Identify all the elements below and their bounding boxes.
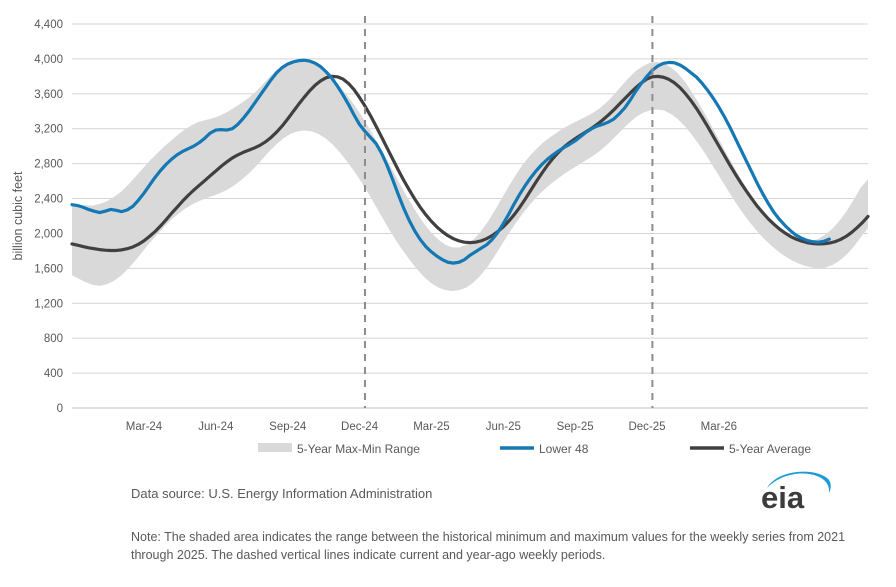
legend-swatch-band xyxy=(258,443,292,452)
y-tick-label: 1,600 xyxy=(34,263,63,275)
legend-item: 5-Year Max-Min Range xyxy=(258,442,420,456)
x-tick-label: Jun-25 xyxy=(486,421,521,433)
y-tick-label: 2,800 xyxy=(34,159,63,171)
footer-source: Data source: U.S. Energy Information Adm… xyxy=(131,485,871,503)
x-tick-label: Dec-24 xyxy=(341,421,379,433)
legend-item: Lower 48 xyxy=(500,442,589,456)
y-tick-label: 2,400 xyxy=(34,194,63,206)
legend-label: 5-Year Average xyxy=(729,442,811,456)
legend-label: 5-Year Max-Min Range xyxy=(297,442,420,456)
x-tick-label: Sep-25 xyxy=(557,421,594,433)
y-tick-label: 3,200 xyxy=(34,124,63,136)
x-tick-label: Jun-24 xyxy=(198,421,234,433)
y-tick-label: 400 xyxy=(44,368,63,380)
y-axis-title: billion cubic feet xyxy=(11,171,25,260)
footer-note-text: Note: The shaded area indicates the rang… xyxy=(131,528,861,564)
y-tick-label: 3,600 xyxy=(34,89,63,101)
data-source-text: Data source: U.S. Energy Information Adm… xyxy=(131,485,871,503)
x-tick-label: Mar-24 xyxy=(126,421,163,433)
y-tick-label: 4,000 xyxy=(34,54,63,66)
legend-label: Lower 48 xyxy=(539,442,589,456)
y-tick-label: 4,400 xyxy=(34,19,63,31)
x-tick-label: Sep-24 xyxy=(269,421,307,433)
x-tick-label: Dec-25 xyxy=(628,421,665,433)
y-tick-label: 0 xyxy=(57,403,63,415)
x-tick-label: Mar-26 xyxy=(701,421,737,433)
x-tick-label: Mar-25 xyxy=(413,421,449,433)
y-tick-label: 2,000 xyxy=(34,228,63,240)
y-tick-label: 800 xyxy=(44,333,63,345)
y-tick-label: 1,200 xyxy=(34,298,63,310)
legend-item: 5-Year Average xyxy=(690,442,811,456)
